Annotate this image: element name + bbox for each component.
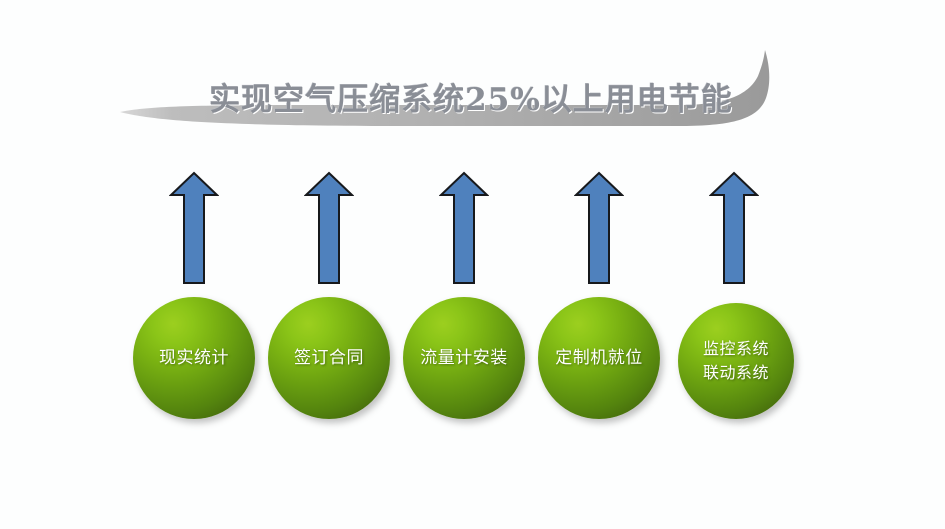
step-bubble-label-3: 流量计安装	[403, 297, 525, 419]
step-label-line: 流量计安装	[420, 347, 508, 370]
slide-canvas: 实现空气压缩系统25%以上用电节能 现实统计 签订合同 流量计安装	[0, 0, 945, 529]
step-bubble-5[interactable]: 监控系统 联动系统	[678, 303, 794, 419]
step-bubble-4[interactable]: 定制机就位	[538, 297, 660, 419]
step-label-line: 联动系统	[703, 361, 769, 385]
step-label-line: 监控系统	[703, 337, 769, 361]
process-step-5[interactable]: 监控系统 联动系统	[666, 0, 801, 529]
process-step-4[interactable]: 定制机就位	[531, 0, 666, 529]
up-arrow-icon	[169, 171, 219, 285]
up-arrow-icon	[439, 171, 489, 285]
step-bubble-label-2: 签订合同	[268, 297, 390, 419]
step-label-line: 现实统计	[159, 347, 229, 370]
up-arrow-icon	[574, 171, 624, 285]
step-label-line: 定制机就位	[555, 347, 643, 370]
step-bubble-1[interactable]: 现实统计	[133, 297, 255, 419]
process-step-1[interactable]: 现实统计	[126, 0, 261, 529]
step-bubble-label-1: 现实统计	[133, 297, 255, 419]
step-label-line: 签订合同	[294, 347, 364, 370]
step-bubble-2[interactable]: 签订合同	[268, 297, 390, 419]
up-arrow-icon	[304, 171, 354, 285]
up-arrow-icon	[709, 171, 759, 285]
step-bubble-label-5: 监控系统 联动系统	[678, 303, 794, 419]
process-step-3[interactable]: 流量计安装	[396, 0, 531, 529]
step-bubble-label-4: 定制机就位	[538, 297, 660, 419]
process-step-2[interactable]: 签订合同	[261, 0, 396, 529]
step-bubble-3[interactable]: 流量计安装	[403, 297, 525, 419]
